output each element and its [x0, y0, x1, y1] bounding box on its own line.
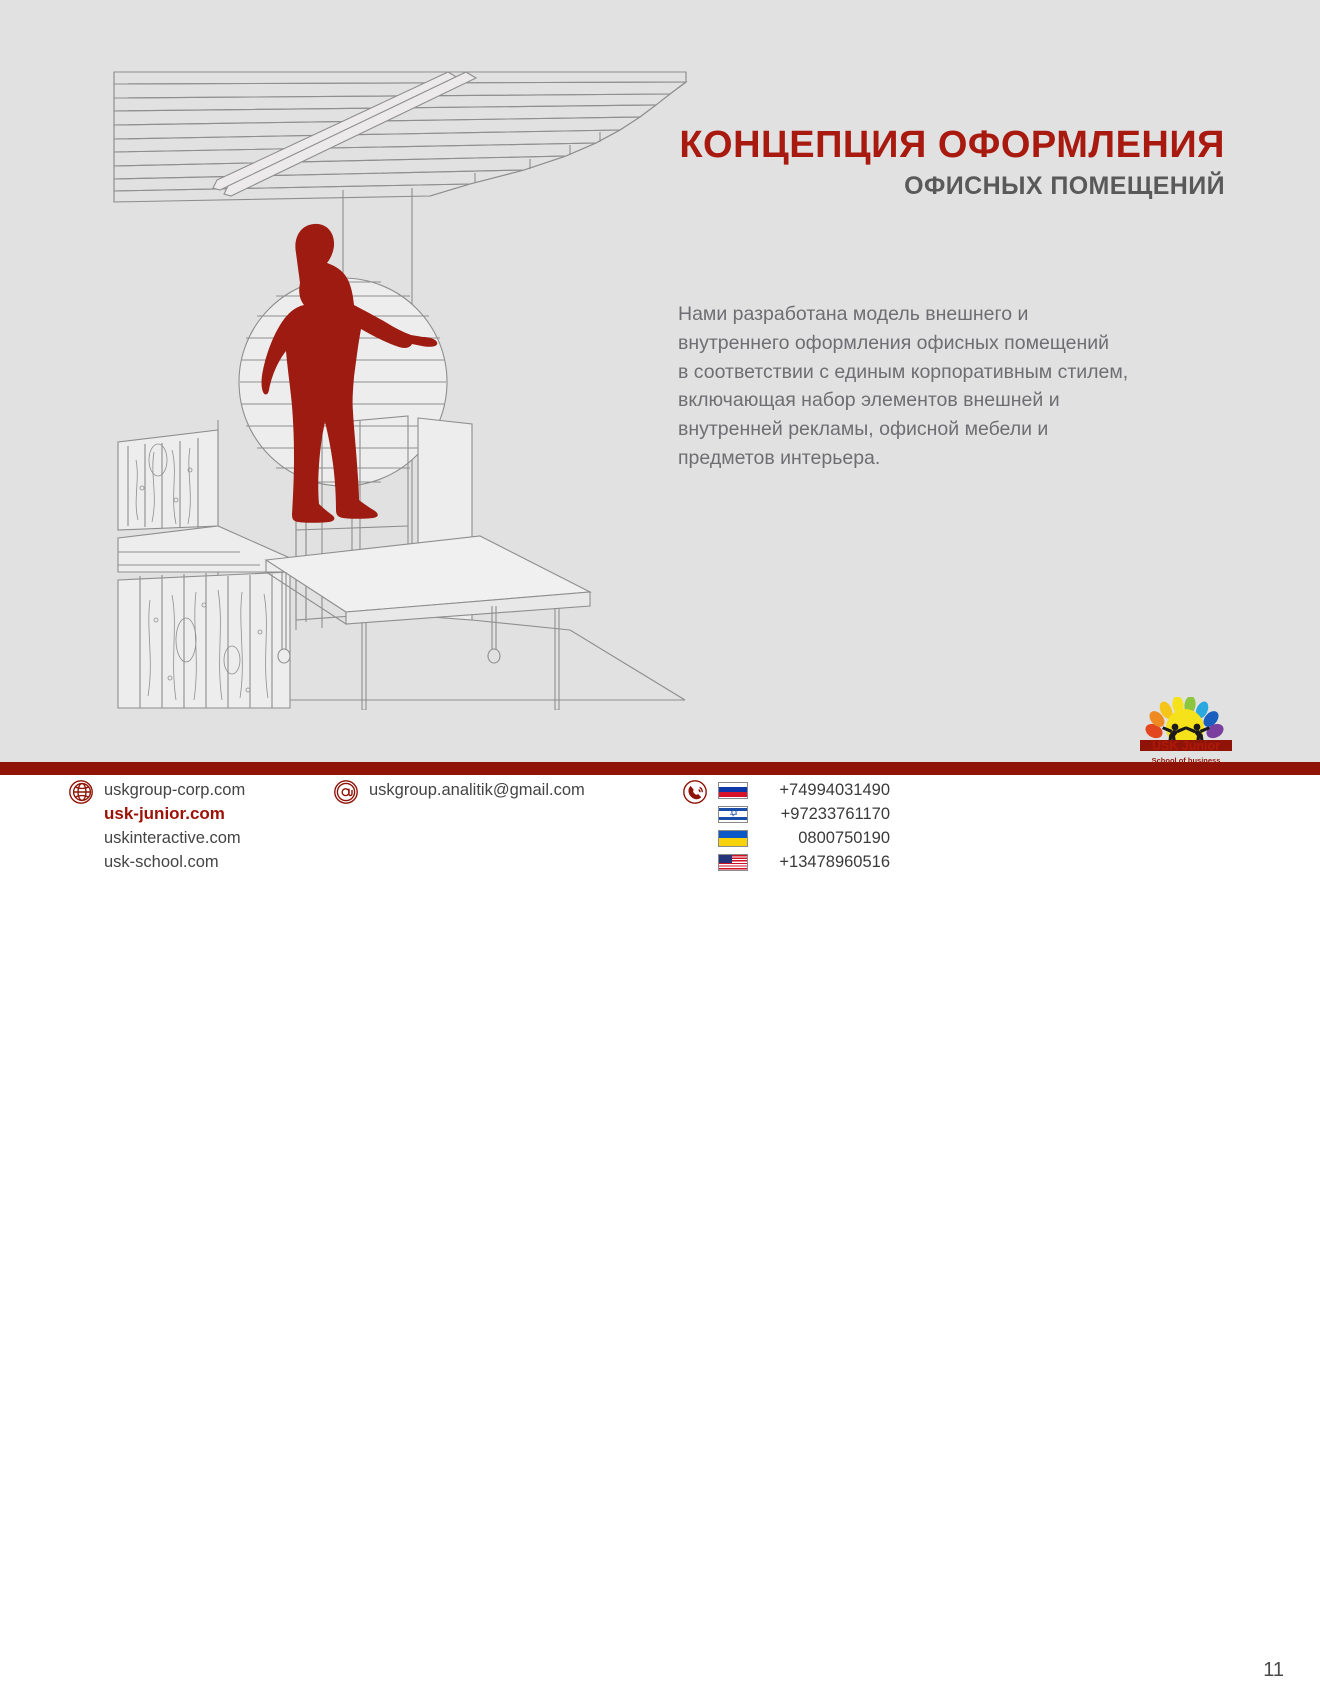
- logo-name: USK Junior: [1140, 740, 1232, 753]
- website-link-1[interactable]: uskgroup-corp.com: [104, 778, 245, 802]
- body-line-2: внутреннего оформления офисных помещений: [678, 329, 1238, 358]
- flag-russia-icon: [718, 782, 748, 799]
- body-line-5: внутренней рекламы, офисной мебели и: [678, 415, 1238, 444]
- footer: uskgroup-corp.com usk-junior.com uskinte…: [0, 775, 1320, 931]
- phone-number-us[interactable]: +13478960516: [760, 853, 890, 872]
- website-link-2[interactable]: usk-junior.com: [104, 802, 245, 826]
- heading-block: КОНЦЕПЦИЯ ОФОРМЛЕНИЯ ОФИСНЫХ ПОМЕЩЕНИЙ: [660, 125, 1225, 201]
- slide-title: КОНЦЕПЦИЯ ОФОРМЛЕНИЯ: [660, 125, 1225, 165]
- phone-list: +74994031490 ✡ +97233761170 0800750190: [718, 778, 890, 874]
- body-line-3: в соответствии с единым корпоративным ст…: [678, 358, 1238, 387]
- website-link-4[interactable]: usk-school.com: [104, 850, 245, 874]
- globe-icon: [68, 779, 94, 805]
- email-address[interactable]: uskgroup.analitik@gmail.com: [369, 778, 585, 802]
- phone-row-ua: 0800750190: [718, 826, 890, 850]
- footer-phones: +74994031490 ✡ +97233761170 0800750190: [682, 778, 890, 874]
- website-link-3[interactable]: uskinteractive.com: [104, 826, 245, 850]
- footer-websites: uskgroup-corp.com usk-junior.com uskinte…: [68, 778, 245, 874]
- phone-number-il[interactable]: +97233761170: [760, 805, 890, 824]
- phone-number-ua[interactable]: 0800750190: [760, 829, 890, 848]
- flag-usa-icon: [718, 854, 748, 871]
- at-sign-icon: [333, 779, 359, 805]
- body-paragraph: Нами разработана модель внешнего и внутр…: [678, 300, 1238, 473]
- body-line-1: Нами разработана модель внешнего и: [678, 300, 1238, 329]
- body-line-4: включающая набор элементов внешней и: [678, 386, 1238, 415]
- usk-junior-logo: USK Junior School of business: [1140, 697, 1232, 765]
- phone-row-il: ✡ +97233761170: [718, 802, 890, 826]
- footer-email: uskgroup.analitik@gmail.com: [333, 778, 585, 805]
- website-list: uskgroup-corp.com usk-junior.com uskinte…: [104, 778, 245, 874]
- office-interior-illustration: [100, 60, 700, 710]
- phone-number-ru[interactable]: +74994031490: [760, 781, 890, 800]
- body-line-6: предметов интерьера.: [678, 444, 1238, 473]
- slide-subtitle: ОФИСНЫХ ПОМЕЩЕНИЙ: [660, 173, 1225, 201]
- footer-divider-bar: [0, 762, 1320, 775]
- page-number: 11: [1263, 1659, 1284, 1682]
- flag-israel-icon: ✡: [718, 806, 748, 823]
- phone-icon: [682, 779, 708, 805]
- slide: КОНЦЕПЦИЯ ОФОРМЛЕНИЯ ОФИСНЫХ ПОМЕЩЕНИЙ Н…: [0, 0, 1320, 931]
- phone-row-us: +13478960516: [718, 850, 890, 874]
- phone-row-ru: +74994031490: [718, 778, 890, 802]
- flag-ukraine-icon: [718, 830, 748, 847]
- email-text: uskgroup.analitik@gmail.com: [369, 778, 585, 802]
